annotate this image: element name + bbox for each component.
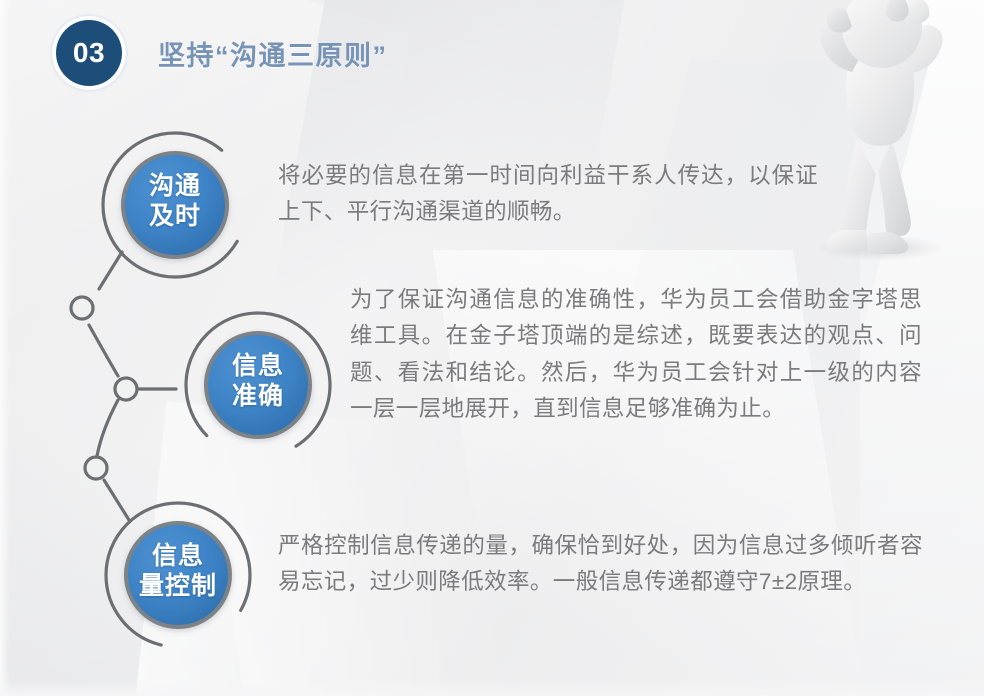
principle-circle-timely[interactable]	[123, 153, 227, 257]
principle-body-volume-control: 严格控制信息传递的量，确保恰到好处，因为信息过多倾听者容易忘记，过少则降低效率。…	[278, 528, 923, 601]
slide-canvas: 03 坚持“沟通三原则”	[0, 0, 984, 696]
principle-circle-volume-control[interactable]	[126, 523, 230, 627]
principle-body-timely: 将必要的信息在第一时间向利益干系人传达，以保证上下、平行沟通渠道的顺畅。	[278, 158, 818, 231]
principle-circle-accurate[interactable]	[206, 333, 310, 437]
connector-node-1	[71, 297, 93, 319]
connector-node-3	[85, 457, 107, 479]
principle-body-accurate: 为了保证沟通信息的准确性，华为员工会借助金字塔思维工具。在金子塔顶端的是综述，既…	[350, 282, 922, 428]
connector-node-2	[115, 378, 137, 400]
